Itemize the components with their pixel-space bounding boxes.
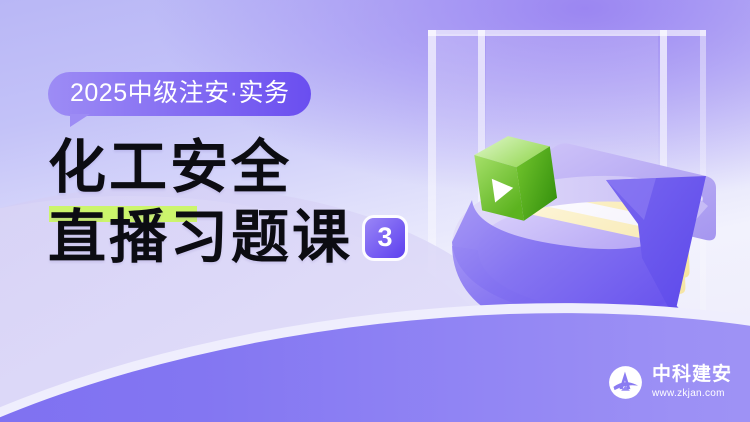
headline-line-2: 直播习题课	[48, 208, 353, 268]
headline-line-1: 化工安全	[48, 138, 468, 198]
episode-number-badge: 3	[365, 218, 405, 258]
brand-logo: 中科建安 www.zkjan.com	[608, 365, 732, 400]
logo-text-block: 中科建安 www.zkjan.com	[652, 365, 732, 400]
logo-website-url: www.zkjan.com	[652, 387, 732, 400]
logo-mark-icon	[608, 365, 643, 400]
badge-tail-icon	[70, 114, 90, 127]
course-category-badge: 2025中级注安·实务	[48, 72, 311, 116]
headline-line-2-row: 直播习题课 3	[48, 208, 468, 268]
logo-company-name: 中科建安	[652, 365, 732, 385]
course-poster: 2025中级注安·实务 化工安全 直播习题课 3 中科建安 www.zkjan.…	[0, 0, 750, 422]
course-badge-wrapper: 2025中级注安·实务	[48, 72, 311, 116]
poster-text-column: 2025中级注安·实务 化工安全 直播习题课 3	[48, 72, 468, 267]
poster-headline: 化工安全 直播习题课 3	[48, 138, 468, 267]
